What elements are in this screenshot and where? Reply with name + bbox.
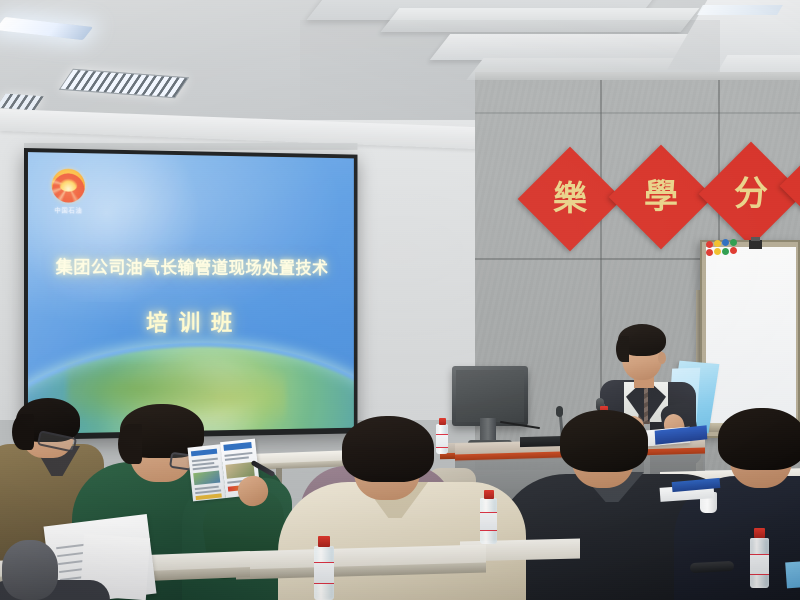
projected-slide: 中国石油 集团公司油气长输管道现场处置技术 培训班 xyxy=(28,152,354,434)
binder-clip-icon[interactable] xyxy=(749,240,762,249)
brochure-left-page xyxy=(187,444,225,501)
diamond-character: 學 xyxy=(624,160,698,234)
bottle-cap xyxy=(318,536,330,547)
blue-booklet[interactable] xyxy=(785,558,800,589)
wall-diamond-sign: 學 xyxy=(609,145,714,250)
brochure-text-line xyxy=(225,456,249,460)
diamond-character: 樂 xyxy=(533,162,607,236)
magnet-icon[interactable] xyxy=(714,240,721,247)
presenter-ear xyxy=(658,352,666,364)
screen-sheen xyxy=(28,152,354,434)
attendee-head xyxy=(2,540,58,600)
binder-clip-handle-icon xyxy=(751,237,760,241)
magnet-icon[interactable] xyxy=(730,239,737,246)
attendee-hair xyxy=(12,414,34,450)
brochure-text-line xyxy=(193,466,219,470)
fluorescent-light-icon xyxy=(697,5,783,15)
training-room-photo: 樂 學 分 享 中国 xyxy=(0,0,800,600)
whiteboard-surface[interactable] xyxy=(706,247,796,423)
brochure-header-band xyxy=(191,449,217,457)
magnet-icon[interactable] xyxy=(730,247,737,254)
diamond-character: 分 xyxy=(714,157,788,231)
bottle-cap xyxy=(484,490,494,499)
attendee-hair xyxy=(560,410,648,472)
magnet-icon[interactable] xyxy=(714,248,721,255)
monitor-bezel xyxy=(456,370,524,422)
water-bottle[interactable] xyxy=(314,536,334,600)
attendee-hair xyxy=(118,424,142,464)
diamond-character: 享 xyxy=(785,159,800,233)
attendee-hair xyxy=(342,416,434,482)
magnet-icon[interactable] xyxy=(722,248,729,255)
bottle-label xyxy=(750,554,769,575)
presenter-hair xyxy=(616,336,629,362)
water-bottle[interactable] xyxy=(750,528,769,588)
wall-diamond-sign: 樂 xyxy=(518,147,623,252)
bottle-label xyxy=(480,512,497,531)
fluorescent-light-icon xyxy=(0,17,93,40)
attendee-navy-suit xyxy=(690,428,800,600)
attendee-hair xyxy=(718,408,800,470)
recessed-grille-light-icon xyxy=(0,94,44,111)
water-bottle[interactable] xyxy=(480,490,497,544)
bottle-label xyxy=(314,562,334,584)
magnet-icon[interactable] xyxy=(722,239,729,246)
recessed-grille-light-icon xyxy=(59,69,189,99)
bottle-cap xyxy=(754,528,765,538)
magnet-icon[interactable] xyxy=(706,249,713,256)
brochure-header-band xyxy=(223,442,251,451)
magnet-icon[interactable] xyxy=(706,241,713,248)
brochure-text-line xyxy=(192,462,214,466)
projection-screen: 中国石油 集团公司油气长输管道现场处置技术 培训班 xyxy=(24,148,357,440)
attendee-foreground xyxy=(0,540,110,600)
brochure-photo xyxy=(193,471,220,486)
monitor-rear xyxy=(452,366,528,426)
panel-seam xyxy=(475,112,800,114)
microphone-icon xyxy=(556,406,563,417)
